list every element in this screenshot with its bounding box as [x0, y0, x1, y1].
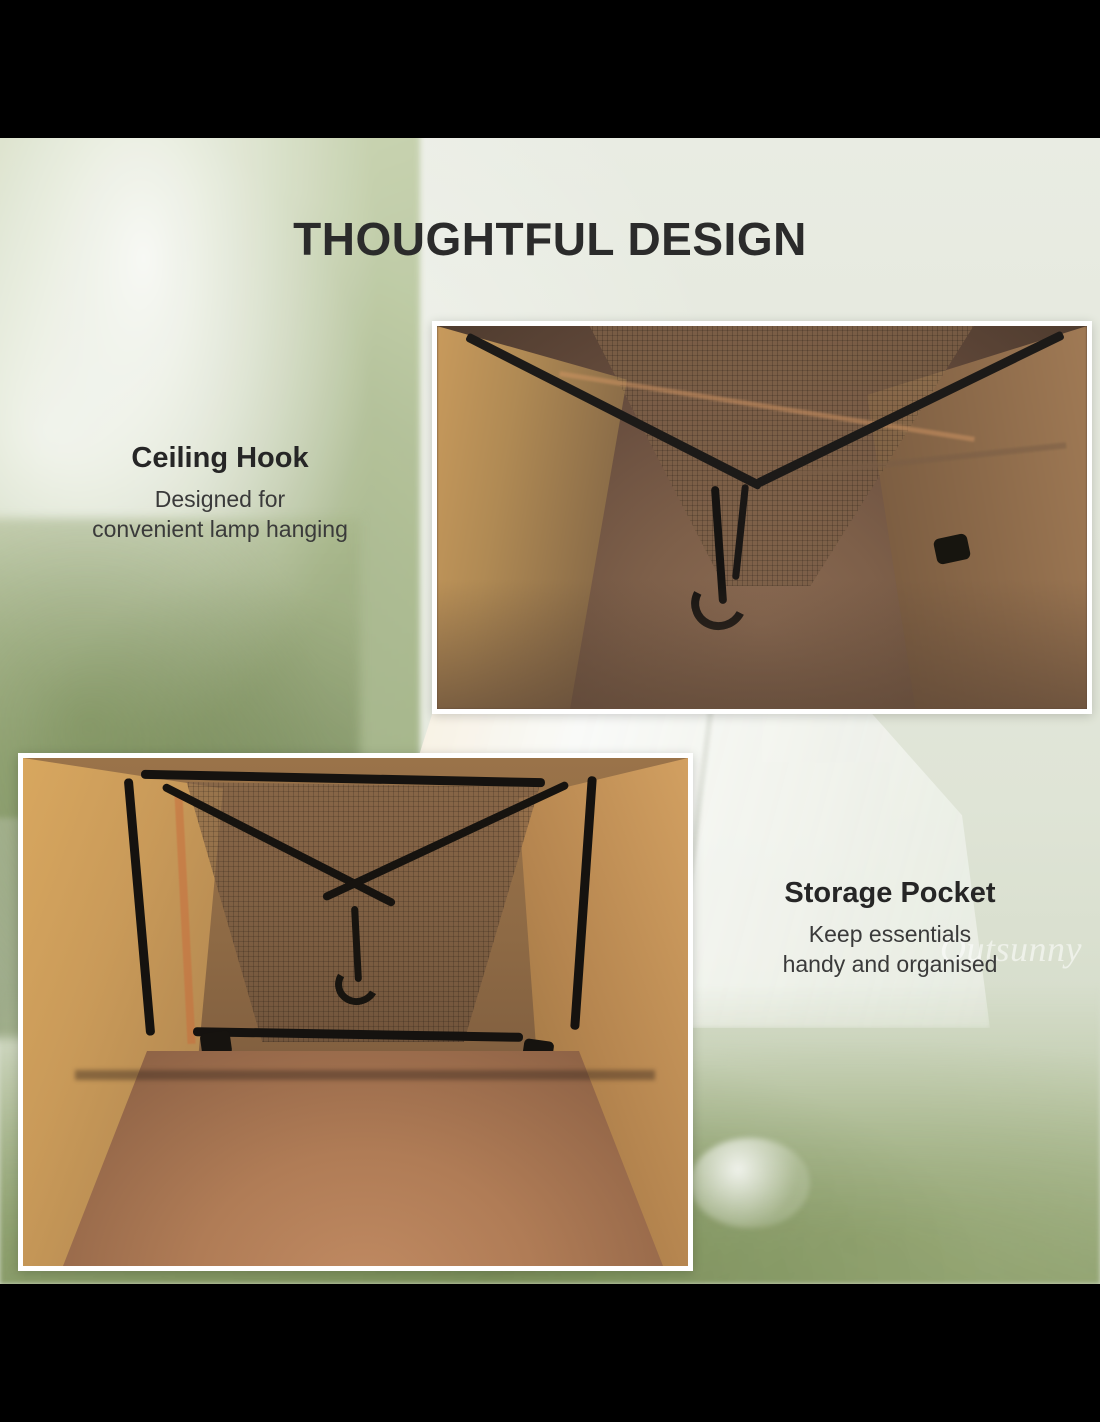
ceiling-hook-description-line1: Designed for: [30, 485, 410, 515]
tent-floor: [63, 1051, 663, 1266]
screenshot-root: Outsunny THOUGHTFUL DESIGN: [0, 0, 1100, 1422]
storage-pocket-photo-scene: [23, 758, 688, 1266]
storage-pocket-photo: [18, 753, 693, 1271]
background-bush: [690, 1138, 810, 1228]
storage-pocket-caption: Storage Pocket Keep essentials handy and…: [700, 878, 1080, 980]
tent-floor-edge: [75, 1070, 655, 1080]
ceiling-hook-photo: [432, 321, 1092, 714]
product-feature-banner: Outsunny THOUGHTFUL DESIGN: [0, 138, 1100, 1284]
ceiling-hook-photo-scene: [437, 326, 1087, 709]
tent-floor-shadow: [437, 579, 1087, 709]
ceiling-hook-heading: Ceiling Hook: [30, 443, 410, 475]
ceiling-hook-caption: Ceiling Hook Designed for convenient lam…: [30, 443, 410, 545]
storage-pocket-description-line1: Keep essentials: [700, 920, 1080, 950]
page-title: THOUGHTFUL DESIGN: [0, 212, 1100, 266]
storage-pocket-description-line2: handy and organised: [700, 950, 1080, 980]
storage-pocket-heading: Storage Pocket: [700, 878, 1080, 910]
ceiling-hook-description-line2: convenient lamp hanging: [30, 515, 410, 545]
